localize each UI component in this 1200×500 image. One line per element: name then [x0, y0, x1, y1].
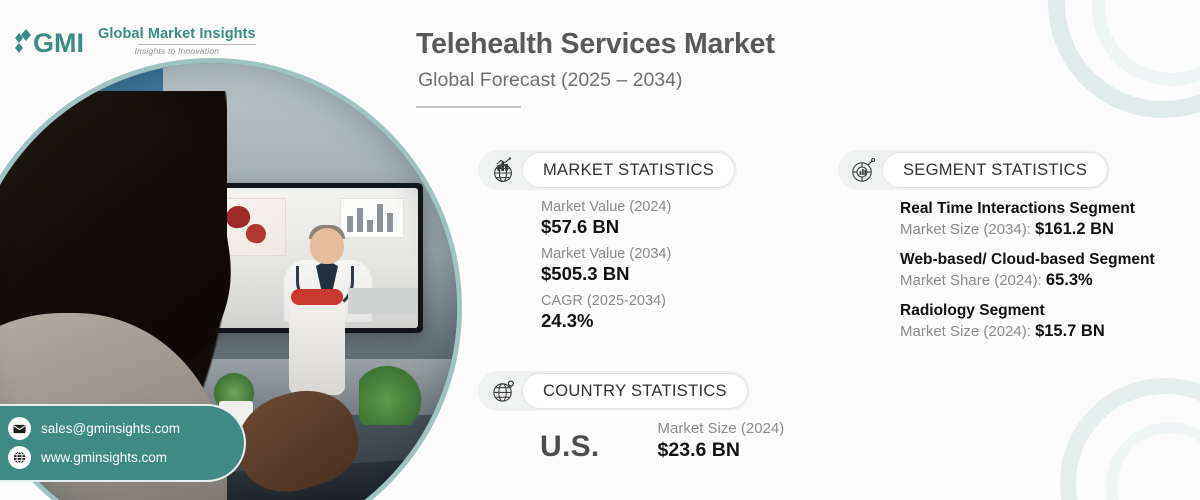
- page-subtitle: Global Forecast (2025 – 2034): [418, 69, 683, 92]
- country-name: U.S.: [540, 432, 600, 462]
- donut-chart-target-icon: [844, 151, 882, 189]
- country-metric-label: Market Size (2024): [658, 420, 785, 437]
- segment-item-metric: Market Share (2024): 65.3%: [900, 270, 1190, 291]
- segment-item-title: Radiology Segment: [900, 301, 1190, 320]
- country-metric-value: $23.6 BN: [658, 439, 740, 461]
- envelope-icon: [8, 417, 31, 440]
- decorative-arc-bottom-right-inner: [1106, 422, 1200, 500]
- market-statistics-label: MARKET STATISTICS: [543, 161, 714, 180]
- segment-item: Web-based/ Cloud-based Segment Market Sh…: [900, 250, 1190, 292]
- page-title: Telehealth Services Market: [416, 28, 775, 61]
- svg-text:GMI: GMI: [33, 28, 84, 58]
- globe-bar-chart-icon: [484, 151, 522, 189]
- market-statistics-badge: MARKET STATISTICS: [478, 150, 737, 190]
- market-stat-value: 24.3%: [541, 310, 593, 331]
- segment-statistics-list: Real Time Interactions Segment Market Si…: [900, 199, 1190, 351]
- contact-banner: sales@gminsights.com www.gminsights.com: [0, 404, 246, 482]
- market-stat-label: CAGR (2025-2034): [541, 293, 671, 309]
- brand-logo: GMI Global Market Insights Insights to I…: [14, 24, 256, 58]
- segment-statistics-pill: SEGMENT STATISTICS: [882, 152, 1108, 188]
- brand-logo-text: Global Market Insights Insights to Innov…: [98, 27, 256, 56]
- market-statistics-list: Market Value (2024) $57.6 BN Market Valu…: [541, 199, 671, 340]
- segment-item-label: Market Share (2024):: [900, 272, 1042, 289]
- segment-item-label: Market Size (2024):: [900, 323, 1031, 340]
- title-divider: [416, 106, 521, 108]
- market-stat-row: Market Value (2024) $57.6 BN: [541, 199, 671, 238]
- contact-website-text: www.gminsights.com: [41, 450, 167, 465]
- country-statistics-label: COUNTRY STATISTICS: [543, 382, 727, 401]
- segment-statistics-label: SEGMENT STATISTICS: [903, 161, 1087, 180]
- country-statistics-content: U.S. Market Size (2024) $23.6 BN: [540, 420, 784, 462]
- globe-pin-icon: [484, 372, 522, 410]
- market-stat-label: Market Value (2024): [541, 199, 671, 215]
- segment-statistics-badge: SEGMENT STATISTICS: [838, 150, 1110, 190]
- segment-item-metric: Market Size (2034): $161.2 BN: [900, 219, 1190, 240]
- globe-icon: [8, 446, 31, 469]
- contact-website-row[interactable]: www.gminsights.com: [8, 446, 244, 469]
- country-metric: Market Size (2024) $23.6 BN: [658, 420, 785, 462]
- segment-item: Real Time Interactions Segment Market Si…: [900, 199, 1190, 241]
- market-stat-row: CAGR (2025-2034) 24.3%: [541, 293, 671, 332]
- decorative-arc-top-right-inner: [1092, 0, 1200, 86]
- market-statistics-pill: MARKET STATISTICS: [522, 152, 735, 188]
- country-statistics-pill: COUNTRY STATISTICS: [522, 373, 748, 409]
- segment-item-label: Market Size (2034):: [900, 221, 1031, 238]
- segment-item-title: Web-based/ Cloud-based Segment: [900, 250, 1190, 269]
- market-stat-value: $505.3 BN: [541, 263, 629, 284]
- brand-logo-divider: [138, 44, 256, 45]
- market-stat-value: $57.6 BN: [541, 216, 619, 237]
- gmi-logo-icon: GMI: [14, 24, 90, 58]
- monitor-illustration: [187, 183, 423, 333]
- decorative-arc-top-right-outer: [1048, 0, 1200, 118]
- contact-email-row[interactable]: sales@gminsights.com: [8, 417, 244, 440]
- market-stat-label: Market Value (2034): [541, 246, 671, 262]
- decorative-arc-bottom-right-outer: [1060, 378, 1200, 500]
- segment-item-metric: Market Size (2024): $15.7 BN: [900, 321, 1190, 342]
- segment-item-value: $161.2 BN: [1035, 220, 1114, 238]
- market-stat-row: Market Value (2034) $505.3 BN: [541, 246, 671, 285]
- segment-item: Radiology Segment Market Size (2024): $1…: [900, 301, 1190, 343]
- segment-item-value: 65.3%: [1046, 271, 1093, 289]
- brand-logo-title: Global Market Insights: [98, 27, 256, 42]
- infographic-canvas: GMI Global Market Insights Insights to I…: [0, 0, 1200, 500]
- country-statistics-badge: COUNTRY STATISTICS: [478, 371, 750, 411]
- brand-logo-tagline: Insights to Innovation: [134, 47, 219, 56]
- segment-item-value: $15.7 BN: [1035, 322, 1105, 340]
- contact-email-text: sales@gminsights.com: [41, 421, 180, 436]
- segment-item-title: Real Time Interactions Segment: [900, 199, 1190, 218]
